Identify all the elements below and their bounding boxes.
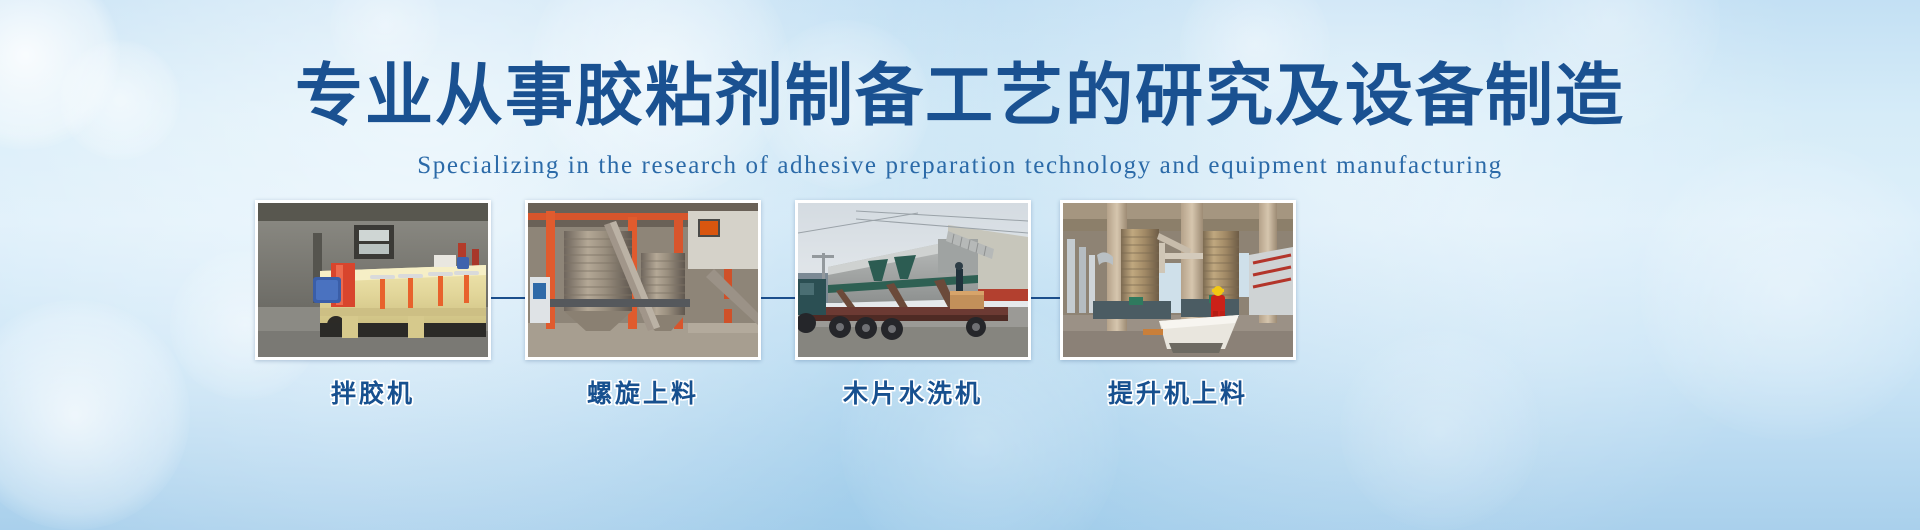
screw-conveyor-illustration bbox=[528, 203, 758, 357]
banner-subtitle: Specializing in the research of adhesive… bbox=[0, 150, 1920, 182]
glue-mixer-photo[interactable] bbox=[255, 200, 491, 360]
bucket-elevator-photo[interactable] bbox=[1060, 200, 1296, 360]
process-item-bucket-elevator[interactable]: 提升机上料 bbox=[1060, 200, 1296, 410]
hero-banner: 专业从事胶粘剂制备工艺的研究及设备制造 Specializing in the … bbox=[0, 0, 1920, 530]
process-item-glue-mixer[interactable]: 拌胶机 bbox=[255, 200, 491, 410]
process-item-caption: 拌胶机 bbox=[255, 374, 491, 410]
wood-chip-washer-illustration bbox=[798, 203, 1028, 357]
glue-mixer-illustration bbox=[258, 203, 488, 357]
process-item-caption: 提升机上料 bbox=[1060, 374, 1296, 410]
process-item-caption: 螺旋上料 bbox=[525, 374, 761, 410]
process-item-caption: 木片水洗机 bbox=[795, 374, 1031, 410]
bucket-elevator-illustration bbox=[1063, 203, 1293, 357]
screw-conveyor-photo[interactable] bbox=[525, 200, 761, 360]
process-item-screw-conveyor[interactable]: 螺旋上料 bbox=[525, 200, 761, 410]
banner-headline: 专业从事胶粘剂制备工艺的研究及设备制造 bbox=[0, 54, 1920, 140]
process-items-row: 拌胶机 bbox=[0, 200, 1920, 500]
wood-chip-washer-photo[interactable] bbox=[795, 200, 1031, 360]
process-item-wood-chip-washer[interactable]: 木片水洗机 bbox=[795, 200, 1031, 410]
